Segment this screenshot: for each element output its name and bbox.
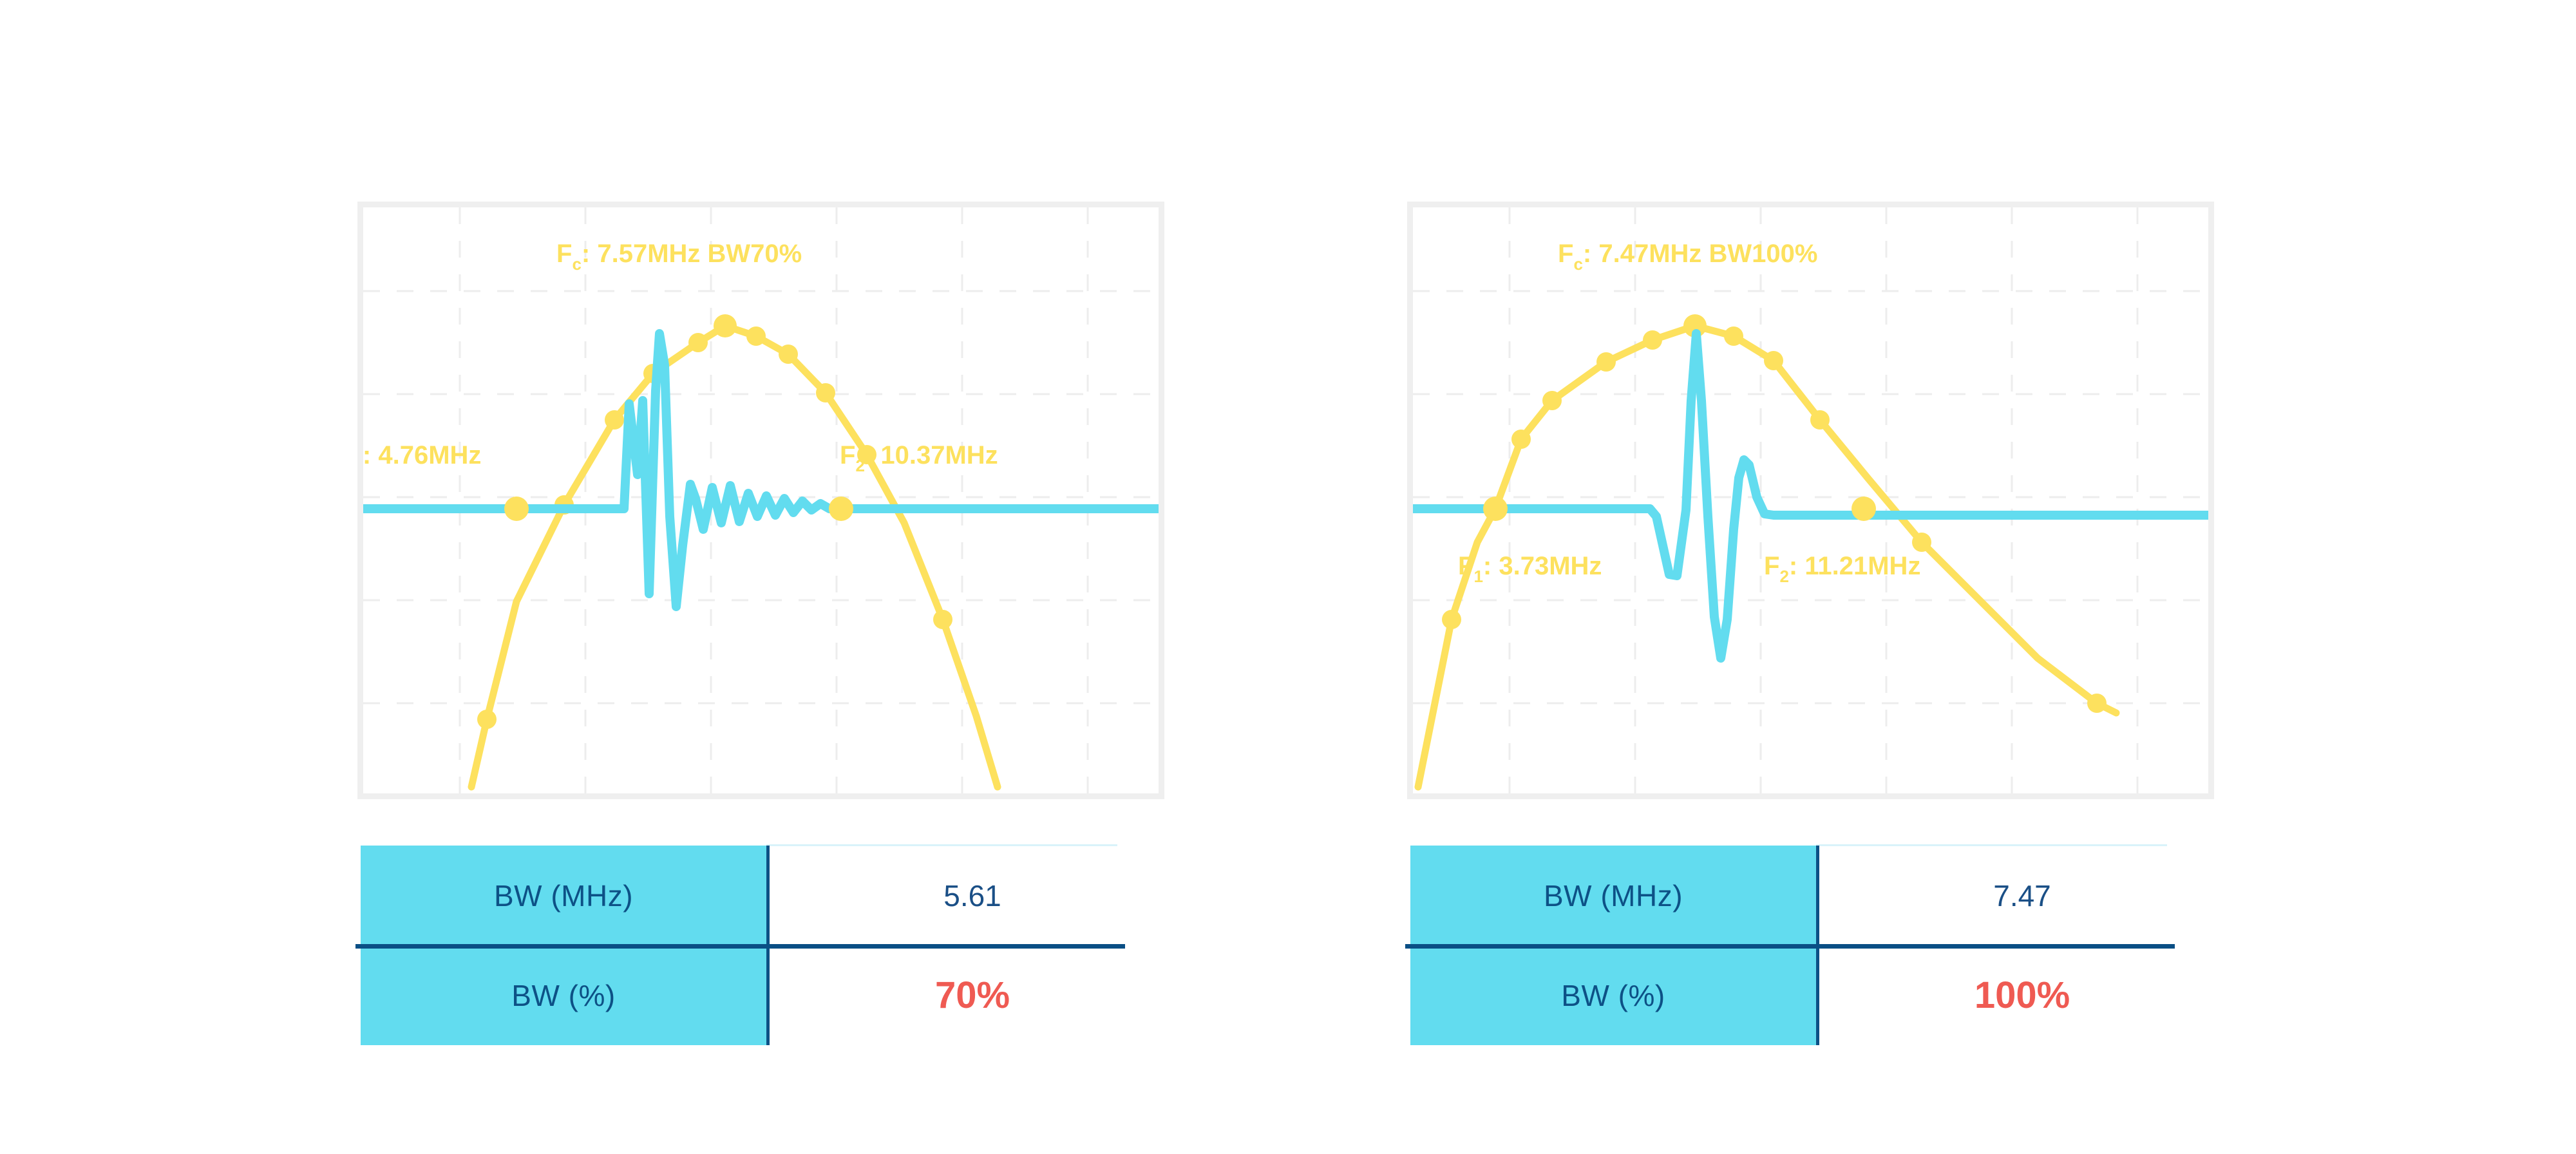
fc-prefix: F xyxy=(556,240,572,268)
row-value-bw-pct: 70% xyxy=(766,945,1179,1045)
chart-left-plot: Fc: 7.57MHz BW70% F1: 4.76MHz F2: 10.37M… xyxy=(363,207,1159,793)
fc-annotation: Fc: 7.47MHz BW100% xyxy=(1558,240,1817,274)
table-row: BW (%) 70% xyxy=(361,945,1179,1045)
row-value-bw-pct: 100% xyxy=(1816,945,2228,1045)
f1-subscript: 1 xyxy=(1473,567,1482,586)
f2-prefix: F xyxy=(840,441,855,469)
table-row-divider xyxy=(1405,944,2175,949)
f1-annotation: F1: 4.76MHz xyxy=(363,441,481,475)
f1-prefix: F xyxy=(1458,552,1473,580)
f2-subscript: 2 xyxy=(1779,567,1788,586)
fc-prefix: F xyxy=(1558,240,1573,268)
chart-left-svg: Fc: 7.57MHz BW70% F1: 4.76MHz F2: 10.37M… xyxy=(363,207,1159,793)
fc-annotation: Fc: 7.57MHz BW70% xyxy=(556,240,802,274)
table-row: BW (MHz) 5.61 xyxy=(361,846,1179,945)
table-row: BW (%) 100% xyxy=(1410,945,2228,1045)
row-header-bw-mhz: BW (MHz) xyxy=(1410,846,1816,945)
panel-left: Fc: 7.57MHz BW70% F1: 4.76MHz F2: 10.37M… xyxy=(296,0,1391,1154)
row-value-bw-mhz: 5.61 xyxy=(766,846,1179,945)
chart-right-svg: Fc: 7.47MHz BW100% F1: 3.73MHz F2: 11.21… xyxy=(1413,207,2208,793)
bw-table-right: BW (MHz) 7.47 BW (%) 100% xyxy=(1410,846,2228,1045)
table-row: BW (MHz) 7.47 xyxy=(1410,846,2228,945)
f1-marker xyxy=(504,497,529,521)
chart-right: Fc: 7.47MHz BW100% F1: 3.73MHz F2: 11.21… xyxy=(1407,202,2214,799)
spectrum-markers xyxy=(477,314,952,729)
f2-marker xyxy=(1851,497,1876,521)
chart-right-plot: Fc: 7.47MHz BW100% F1: 3.73MHz F2: 11.21… xyxy=(1413,207,2208,793)
f1-text: : 4.76MHz xyxy=(363,441,481,469)
f1-text: : 3.73MHz xyxy=(1483,552,1602,580)
fc-subscript: c xyxy=(572,254,581,274)
row-header-bw-pct: BW (%) xyxy=(1410,945,1816,1045)
f2-annotation: F2: 11.21MHz xyxy=(1764,552,1920,586)
row-header-bw-mhz: BW (MHz) xyxy=(361,846,766,945)
fc-text: : 7.57MHz BW70% xyxy=(582,240,802,268)
f2-prefix: F xyxy=(1764,552,1779,580)
row-value-bw-mhz: 7.47 xyxy=(1816,846,2228,945)
f2-text: : 10.37MHz xyxy=(865,441,998,469)
f1-marker xyxy=(1483,497,1508,521)
figure-root: Fc: 7.57MHz BW70% F1: 4.76MHz F2: 10.37M… xyxy=(0,0,2576,1154)
f2-text: : 11.21MHz xyxy=(1789,552,1921,580)
panel-right: Fc: 7.47MHz BW100% F1: 3.73MHz F2: 11.21… xyxy=(1346,0,2441,1154)
row-header-bw-pct: BW (%) xyxy=(361,945,766,1045)
f2-marker xyxy=(829,497,853,521)
table-row-divider xyxy=(355,944,1125,949)
fc-text: : 7.47MHz BW100% xyxy=(1583,240,1818,268)
pulse-waveform xyxy=(363,334,1159,607)
f2-subscript: 2 xyxy=(855,456,864,475)
chart-left: Fc: 7.57MHz BW70% F1: 4.76MHz F2: 10.37M… xyxy=(357,202,1164,799)
pulse-waveform xyxy=(1413,334,2208,658)
f1-annotation: F1: 3.73MHz xyxy=(1458,552,1602,586)
bw-table-left: BW (MHz) 5.61 BW (%) 70% xyxy=(361,846,1179,1045)
fc-subscript: c xyxy=(1573,254,1582,274)
